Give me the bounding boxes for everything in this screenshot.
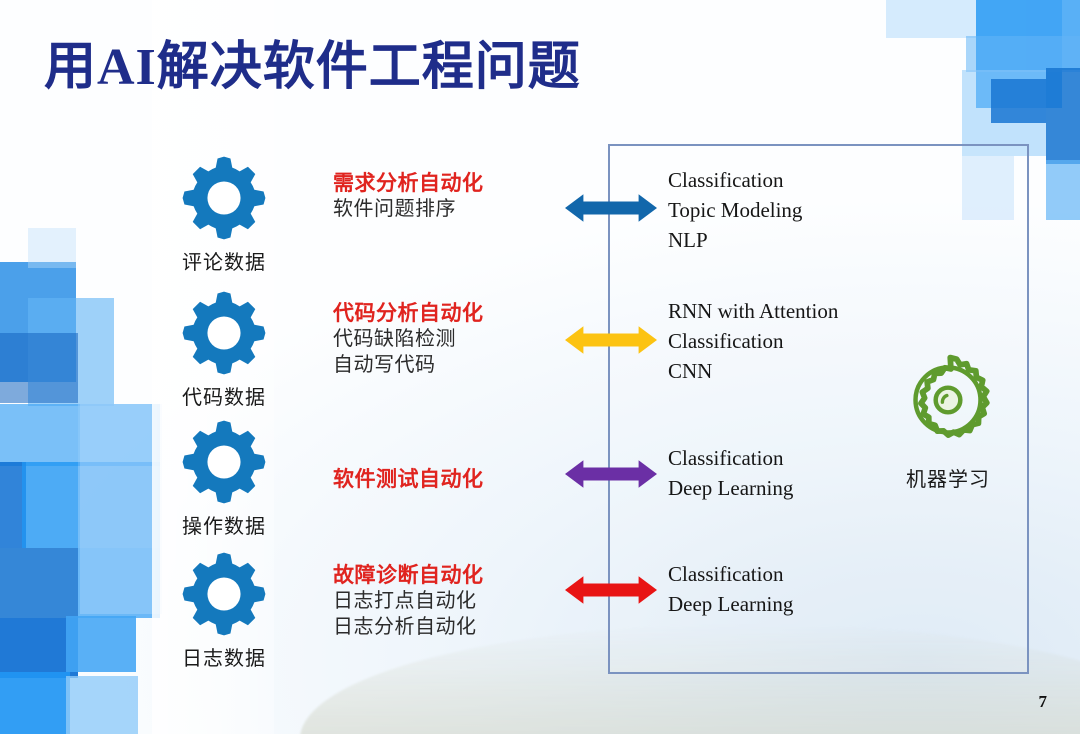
deco-square (886, 0, 976, 38)
double-arrow-icon (565, 190, 657, 226)
double-arrow-icon (565, 572, 657, 608)
deco-square (78, 548, 160, 618)
task-subline: 代码缺陷检测 (333, 326, 548, 352)
outline-gear-icon (892, 344, 1004, 456)
deco-square (0, 618, 78, 678)
link-arrow-cell (565, 572, 657, 613)
gear-icon (178, 152, 270, 244)
task-subline: 日志打点自动化 (333, 588, 548, 614)
data-source-label: 日志数据 (166, 642, 282, 671)
task-subline: 软件问题排序 (333, 196, 548, 222)
data-source-cell[interactable]: 评论数据 (166, 152, 282, 275)
data-source-label: 代码数据 (166, 381, 282, 410)
deco-square (976, 0, 1062, 108)
page-number: 7 (1039, 692, 1048, 712)
deco-square (1046, 160, 1080, 220)
slide-canvas: 用AI解决软件工程问题 评论数据 需求分析自动化 软件问题排序 Classifi… (0, 0, 1080, 734)
deco-square (0, 548, 78, 618)
deco-square (0, 262, 76, 382)
task-headline: 需求分析自动化 (333, 170, 548, 196)
deco-square (78, 462, 160, 548)
link-arrow-cell (565, 456, 657, 497)
link-arrow-cell (565, 190, 657, 231)
deco-square (22, 462, 78, 548)
gear-icon (178, 287, 270, 379)
data-source-cell[interactable]: 代码数据 (166, 287, 282, 410)
deco-square (78, 404, 160, 466)
deco-square (0, 404, 160, 466)
double-arrow-icon (565, 322, 657, 358)
deco-square (66, 616, 136, 672)
techniques-cell: Classification Deep Learning (668, 560, 968, 620)
task-cell: 软件测试自动化 (333, 466, 548, 492)
machine-learning-block[interactable]: 机器学习 (884, 344, 1012, 492)
task-cell: 代码分析自动化 代码缺陷检测 自动写代码 (333, 300, 548, 378)
task-cell: 需求分析自动化 软件问题排序 (333, 170, 548, 222)
task-headline: 软件测试自动化 (333, 466, 548, 492)
task-headline: 故障诊断自动化 (333, 562, 548, 588)
technique-item: Deep Learning (668, 590, 968, 620)
data-source-label: 评论数据 (166, 246, 282, 275)
task-headline: 代码分析自动化 (333, 300, 548, 326)
deco-square (80, 404, 162, 614)
machine-learning-label: 机器学习 (884, 463, 1012, 492)
data-source-cell[interactable]: 日志数据 (166, 548, 282, 671)
data-source-label: 操作数据 (166, 510, 282, 539)
task-subline: 自动写代码 (333, 352, 548, 378)
technique-item: Classification (668, 560, 968, 590)
deco-square (991, 79, 1046, 123)
deco-square (966, 36, 1080, 72)
technique-item: Topic Modeling (668, 196, 968, 226)
data-source-cell[interactable]: 操作数据 (166, 416, 282, 539)
deco-square (1046, 68, 1080, 164)
deco-square (0, 333, 78, 403)
deco-square (1026, 0, 1080, 70)
gear-icon (178, 548, 270, 640)
page-title: 用AI解决软件工程问题 (44, 24, 581, 99)
technique-item: RNN with Attention (668, 297, 968, 327)
techniques-cell: Classification Topic Modeling NLP (668, 166, 968, 255)
task-subline: 日志分析自动化 (333, 614, 548, 640)
gear-icon (178, 416, 270, 508)
technique-item: Classification (668, 166, 968, 196)
task-cell: 故障诊断自动化 日志打点自动化 日志分析自动化 (333, 562, 548, 640)
deco-square (0, 462, 26, 548)
deco-square (66, 676, 138, 734)
double-arrow-icon (565, 456, 657, 492)
technique-item: NLP (668, 226, 968, 256)
link-arrow-cell (565, 322, 657, 363)
deco-square (28, 228, 76, 268)
deco-square (28, 298, 114, 406)
deco-square (0, 672, 70, 734)
